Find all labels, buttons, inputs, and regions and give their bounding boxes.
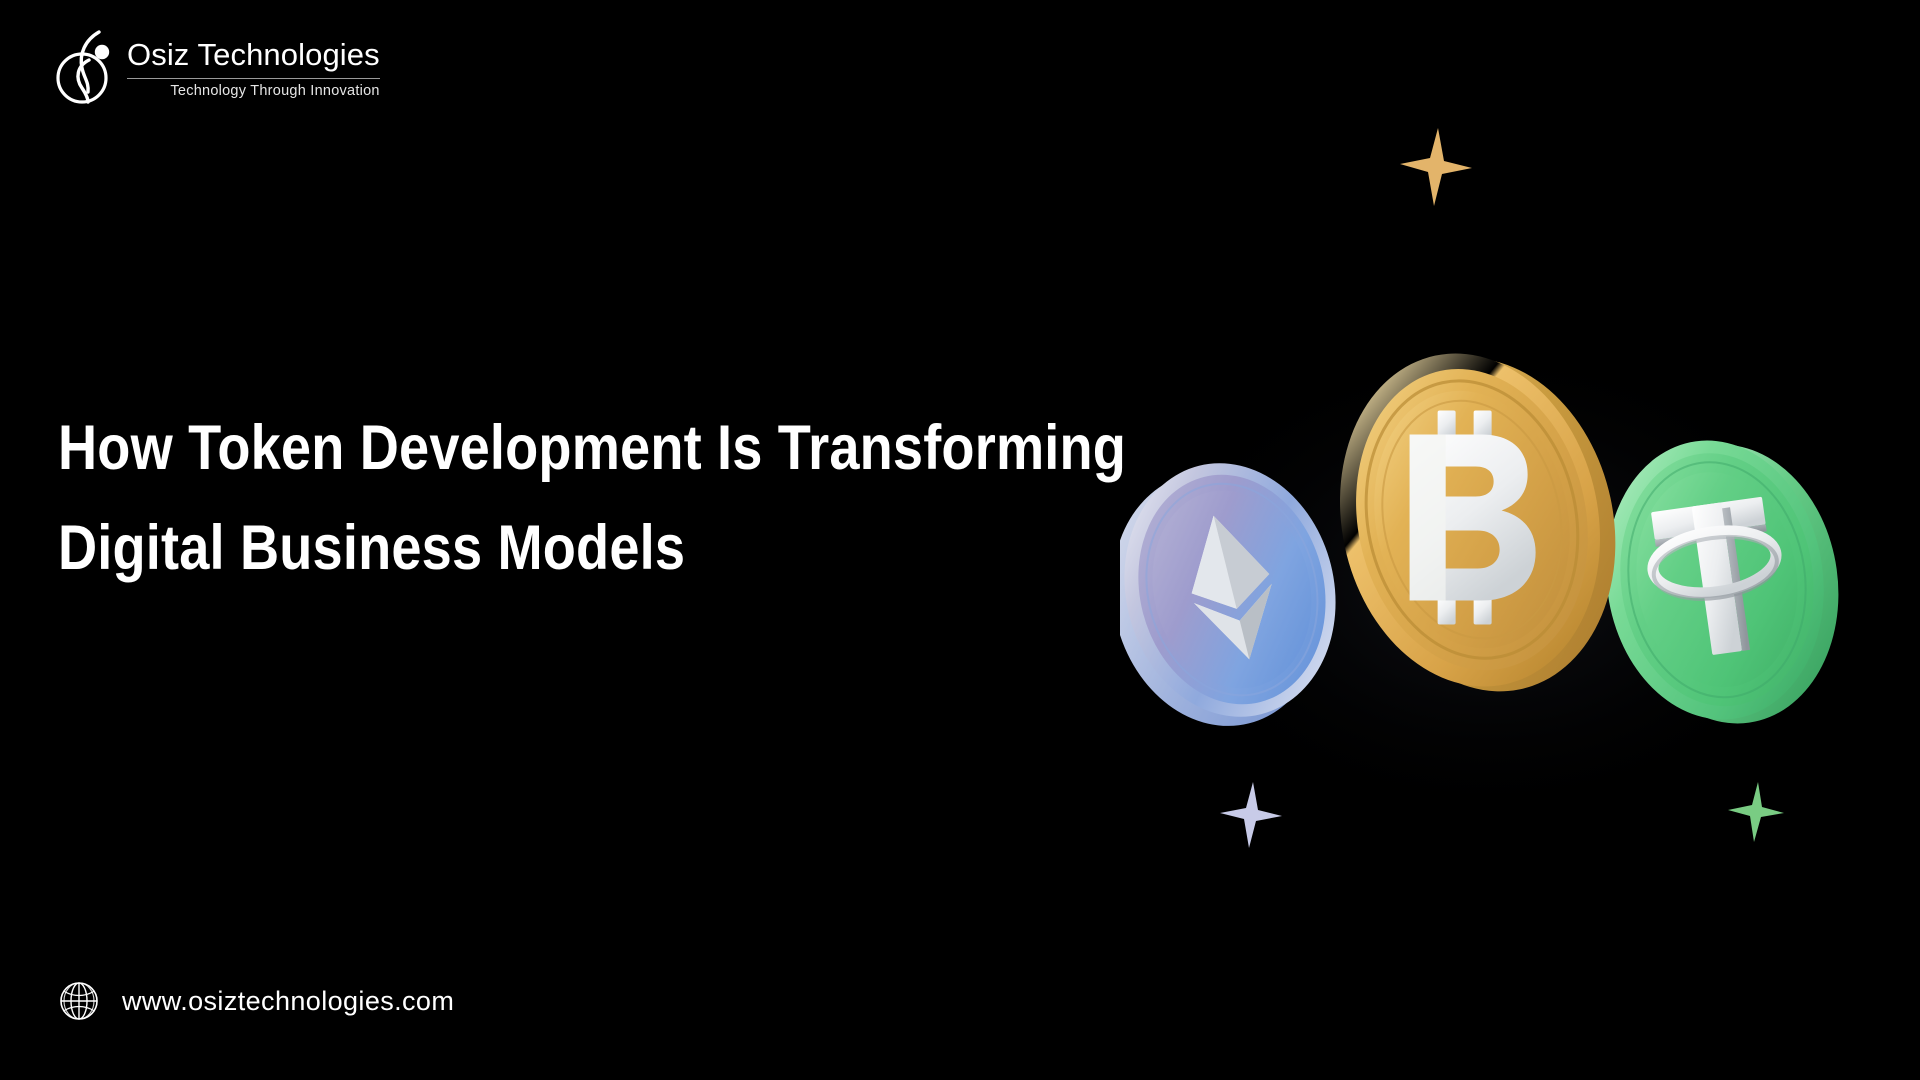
sparkle-gold-icon <box>1400 128 1472 206</box>
sparkle-green-icon <box>1728 782 1784 842</box>
headline-line-2: Digital Business Models <box>58 498 970 598</box>
page-title: How Token Development Is Transforming Di… <box>58 398 1118 598</box>
headline-line-1: How Token Development Is Transforming <box>58 398 970 498</box>
logo-text-block: Osiz Technologies Technology Through Inn… <box>127 35 380 98</box>
banner-root: Osiz Technologies Technology Through Inn… <box>0 0 1920 1080</box>
logo-name: Osiz Technologies <box>127 39 380 71</box>
logo-divider <box>127 78 380 79</box>
osiz-figure-icon <box>55 26 117 108</box>
brand-logo[interactable]: Osiz Technologies Technology Through Inn… <box>55 26 380 108</box>
crypto-coins-artwork <box>1120 290 1880 810</box>
logo-tagline: Technology Through Innovation <box>127 83 380 99</box>
website-url[interactable]: www.osiztechnologies.com <box>122 986 454 1017</box>
sparkle-blue-icon <box>1220 782 1282 848</box>
globe-icon <box>58 980 100 1022</box>
footer-website[interactable]: www.osiztechnologies.com <box>58 980 454 1022</box>
